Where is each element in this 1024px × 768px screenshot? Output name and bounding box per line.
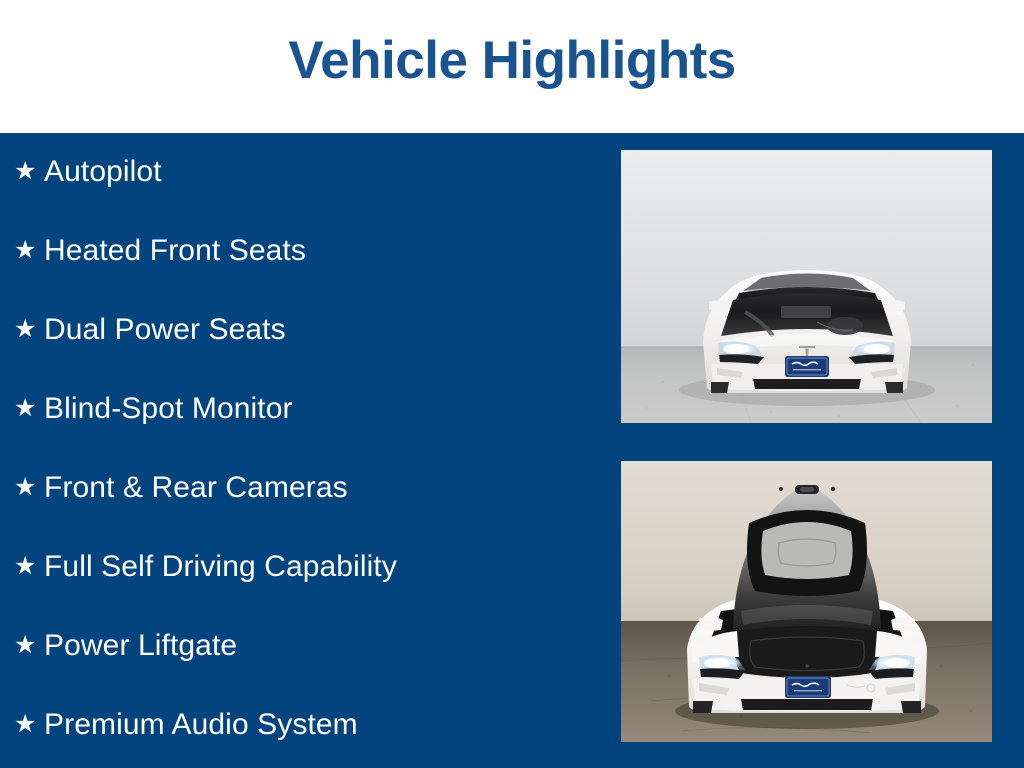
- photo-front-exterior: White Tesla front exterior view with hea…: [621, 150, 992, 423]
- star-icon: ★: [14, 317, 44, 342]
- highlight-label: Autopilot: [44, 154, 162, 190]
- vehicle-front-illustration: [621, 150, 992, 423]
- star-icon: ★: [14, 554, 44, 579]
- highlight-label: Premium Audio System: [44, 707, 358, 743]
- header-band: Vehicle Highlights: [0, 0, 1024, 133]
- vehicle-frunk-open-illustration: [621, 461, 992, 742]
- highlight-label: Heated Front Seats: [44, 233, 306, 269]
- list-item: ★ Blind-Spot Monitor: [14, 389, 293, 429]
- list-item: ★ Power Liftgate: [14, 626, 237, 666]
- list-item: ★ Heated Front Seats: [14, 231, 306, 271]
- dealer-license-plate: [785, 356, 829, 377]
- star-icon: ★: [14, 712, 44, 737]
- highlight-label: Full Self Driving Capability: [44, 549, 397, 585]
- star-icon: ★: [14, 238, 44, 263]
- vehicle-highlights-list: ★ Autopilot ★ Heated Front Seats ★ Dual …: [0, 133, 600, 768]
- star-icon: ★: [14, 159, 44, 184]
- list-item: ★ Premium Audio System: [14, 705, 358, 745]
- list-item: ★ Front & Rear Cameras: [14, 468, 348, 508]
- highlight-label: Blind-Spot Monitor: [44, 391, 293, 427]
- photo-frunk-open: White Tesla front view with frunk hood o…: [621, 461, 992, 742]
- highlight-label: Front & Rear Cameras: [44, 470, 348, 506]
- list-item: ★ Full Self Driving Capability: [14, 547, 397, 587]
- slide-vehicle-highlights: Vehicle Highlights ★ Autopilot ★ Heated …: [0, 0, 1024, 768]
- dealer-license-plate: [785, 676, 831, 698]
- star-icon: ★: [14, 396, 44, 421]
- list-item: ★ Dual Power Seats: [14, 310, 286, 350]
- highlight-label: Power Liftgate: [44, 628, 237, 664]
- list-item: ★ Autopilot: [14, 152, 162, 192]
- star-icon: ★: [14, 633, 44, 658]
- highlight-label: Dual Power Seats: [44, 312, 286, 348]
- star-icon: ★: [14, 475, 44, 500]
- page-title: Vehicle Highlights: [0, 30, 1024, 92]
